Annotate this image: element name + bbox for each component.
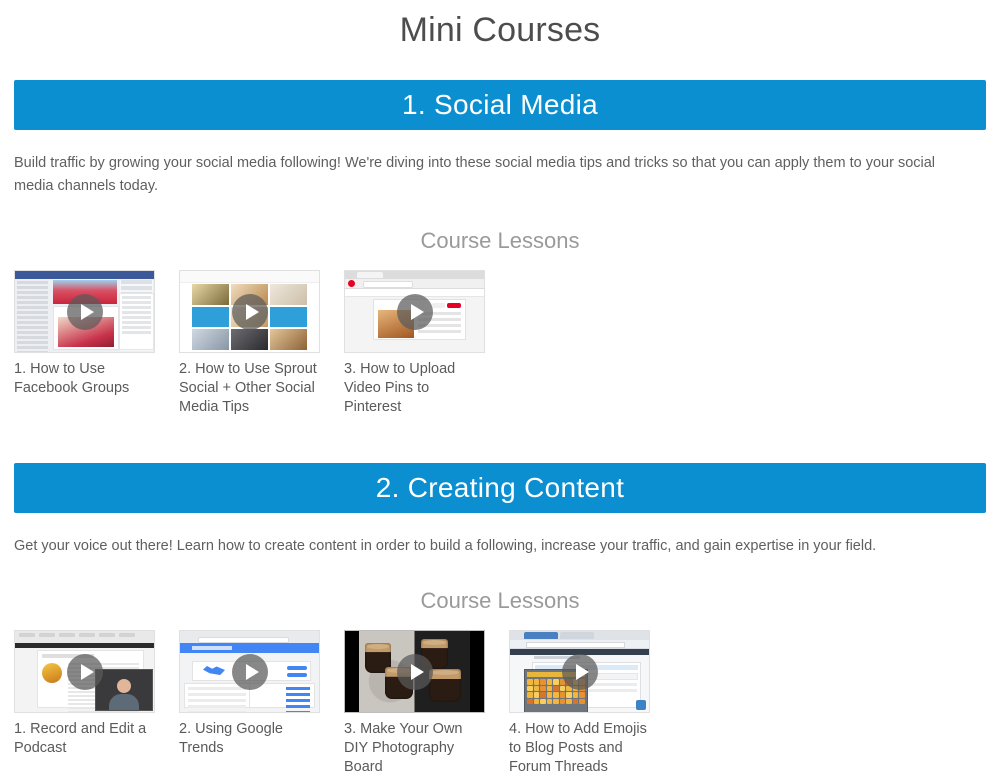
play-icon[interactable] (67, 654, 103, 690)
mini-courses-page: Mini Courses 1. Social Media Build traff… (0, 8, 1000, 718)
google-trends-thumbnail[interactable] (179, 630, 320, 713)
facebook-page-thumbnail[interactable] (14, 270, 155, 353)
coffee-photo-thumbnail[interactable] (344, 630, 485, 713)
page-title: Mini Courses (0, 8, 1000, 52)
lesson-card[interactable]: 2. Using Google Trends (179, 630, 320, 758)
section-banner-title-2: 2. Creating Content (376, 463, 625, 513)
course-section-creating-content: 2. Creating Content Get your voice out t… (0, 417, 1000, 777)
section-description-1: Build traffic by growing your social med… (14, 152, 974, 198)
lesson-title: 2. How to Use Sprout Social + Other Soci… (179, 360, 320, 417)
screencast-webcam-thumbnail[interactable] (14, 630, 155, 713)
social-grid-thumbnail[interactable] (179, 270, 320, 353)
lesson-row-1: 1. How to Use Facebook Groups (14, 270, 1000, 417)
play-icon[interactable] (397, 654, 433, 690)
play-icon[interactable] (397, 294, 433, 330)
lessons-heading-1: Course Lessons (0, 226, 1000, 256)
play-icon[interactable] (67, 294, 103, 330)
section-banner-title-1: 1. Social Media (402, 80, 598, 130)
lesson-card[interactable]: 4. How to Add Emojis to Blog Posts and F… (509, 630, 650, 777)
play-icon[interactable] (562, 654, 598, 690)
lesson-row-2: 1. Record and Edit a Podcast (14, 630, 1000, 777)
lesson-card[interactable]: 1. Record and Edit a Podcast (14, 630, 155, 758)
lesson-card[interactable]: 3. Make Your Own DIY Photography Board (344, 630, 485, 777)
emoji-editor-thumbnail[interactable] (509, 630, 650, 713)
lesson-title: 1. Record and Edit a Podcast (14, 720, 155, 758)
section-banner-2: 2. Creating Content (14, 463, 986, 513)
lesson-card[interactable]: 1. How to Use Facebook Groups (14, 270, 155, 398)
chat-bubble-icon (636, 700, 646, 710)
lesson-title: 3. How to Upload Video Pins to Pinterest (344, 360, 485, 417)
section-banner-1: 1. Social Media (14, 80, 986, 130)
lesson-title: 1. How to Use Facebook Groups (14, 360, 155, 398)
pinterest-browser-thumbnail[interactable] (344, 270, 485, 353)
lesson-title: 3. Make Your Own DIY Photography Board (344, 720, 485, 777)
lesson-card[interactable]: 3. How to Upload Video Pins to Pinterest (344, 270, 485, 417)
lesson-title: 2. Using Google Trends (179, 720, 320, 758)
lessons-heading-2: Course Lessons (0, 586, 1000, 616)
play-icon[interactable] (232, 294, 268, 330)
lesson-card[interactable]: 2. How to Use Sprout Social + Other Soci… (179, 270, 320, 417)
course-section-social-media: 1. Social Media Build traffic by growing… (0, 52, 1000, 417)
section-description-2: Get your voice out there! Learn how to c… (14, 535, 974, 558)
play-icon[interactable] (232, 654, 268, 690)
lesson-title: 4. How to Add Emojis to Blog Posts and F… (509, 720, 650, 777)
